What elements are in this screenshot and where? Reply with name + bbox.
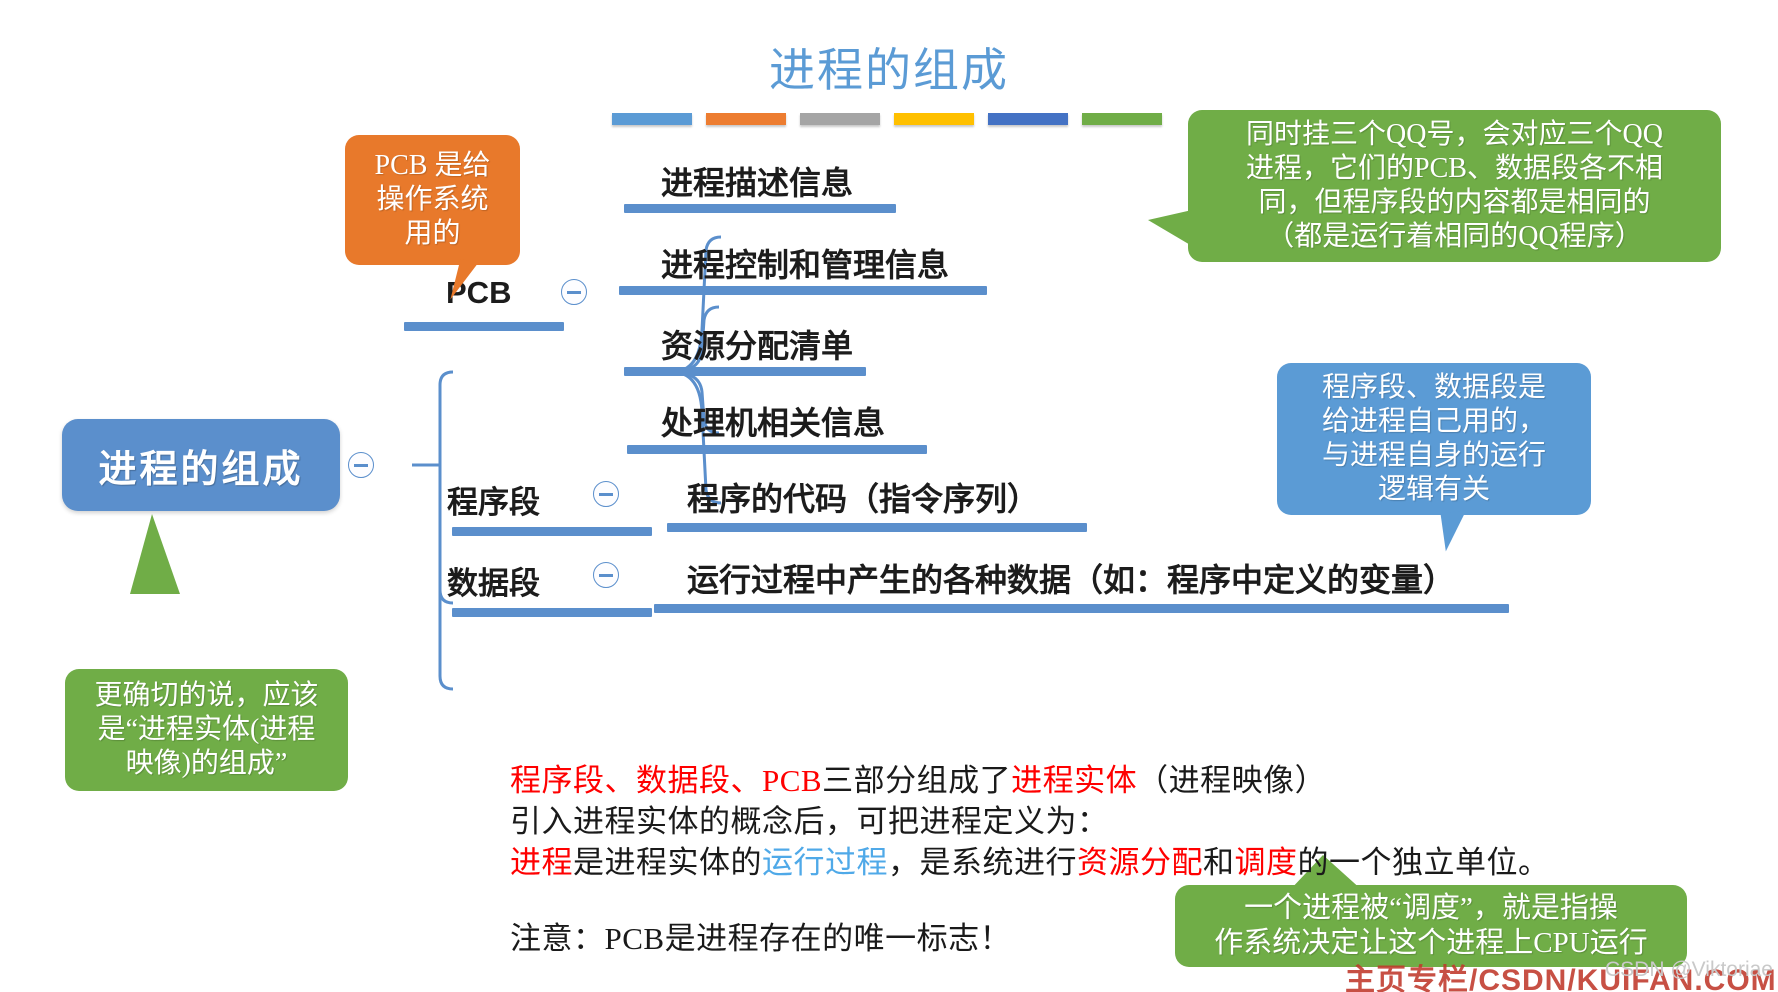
callout-segment-line-3: 与进程自身的运行 bbox=[1322, 439, 1546, 473]
collapse-toggle-data[interactable] bbox=[593, 562, 619, 588]
colorbar-segment-2 bbox=[706, 113, 786, 125]
paragraph-line-1-part-4: （进程映像） bbox=[1137, 763, 1326, 798]
decorative-colorbar bbox=[612, 113, 1162, 125]
callout-segment-line-2: 给进程自己用的， bbox=[1322, 405, 1546, 439]
paragraph-line-3-part-7: 调度 bbox=[1235, 845, 1298, 880]
mindmap-leaf-underline-4 bbox=[627, 445, 927, 454]
paragraph-line-3-part-5: 资源分配 bbox=[1077, 845, 1203, 880]
collapse-toggle-root[interactable] bbox=[348, 452, 374, 478]
callout-qq-line-4: （都是运行着相同的QQ程序） bbox=[1266, 220, 1642, 254]
callout-pcb-line-1: PCB 是给 bbox=[375, 149, 491, 183]
paragraph-line-3-part-2: 是进程实体的 bbox=[573, 845, 762, 880]
colorbar-segment-4 bbox=[894, 113, 974, 125]
callout-entity-tail bbox=[130, 514, 180, 594]
callout-entity-line-3: 映像)的组成” bbox=[126, 747, 288, 781]
collapse-toggle-pcb[interactable] bbox=[561, 279, 587, 305]
page-title: 进程的组成 bbox=[0, 34, 1778, 100]
paragraph-line-3-part-8: 的一个独立单位。 bbox=[1298, 845, 1550, 880]
paragraph-line-3-part-1: 进程 bbox=[510, 845, 573, 880]
callout-qq-tail bbox=[1148, 210, 1192, 246]
watermark-gray: CSDN @Viktoriae bbox=[1605, 958, 1773, 982]
paragraph-line-3-part-3: 运行过程 bbox=[762, 845, 888, 880]
mindmap-leaf-label-1: 进程描述信息 bbox=[661, 158, 853, 204]
mindmap-leaf-label-5: 程序的代码（指令序列） bbox=[687, 474, 1039, 520]
paragraph-line-1-part-2: 三部分组成了 bbox=[822, 763, 1011, 798]
mindmap-leaf-underline-5 bbox=[667, 523, 1087, 532]
colorbar-segment-1 bbox=[612, 113, 692, 125]
mindmap-root-node[interactable]: 进程的组成 bbox=[62, 419, 340, 511]
callout-qq-line-1: 同时挂三个QQ号，会对应三个QQ bbox=[1246, 118, 1663, 152]
mindmap-root-label: 进程的组成 bbox=[98, 438, 303, 493]
collapse-toggle-program[interactable] bbox=[593, 481, 619, 507]
callout-qq-note: 同时挂三个QQ号，会对应三个QQ 进程，它们的PCB、数据段各不相 同，但程序段… bbox=[1188, 110, 1721, 262]
callout-entity-note: 更确切的说，应该 是“进程实体(进程 映像)的组成” bbox=[65, 669, 348, 791]
mindmap-node-data-underline bbox=[452, 608, 652, 617]
callout-segment-line-4: 逻辑有关 bbox=[1378, 473, 1490, 507]
slide-canvas: 进程的组成 进程的组成 PCB 进程描述信息 进程控制和管理信息 资源分配清单 … bbox=[0, 0, 1778, 992]
callout-segment-tail bbox=[1441, 509, 1482, 552]
paragraph-line-1-part-3: 进程实体 bbox=[1011, 763, 1137, 798]
mindmap-leaf-underline-1 bbox=[624, 204, 896, 213]
mindmap-leaf-underline-3 bbox=[624, 367, 866, 376]
mindmap-leaf-label-6: 运行过程中产生的各种数据（如：程序中定义的变量） bbox=[687, 555, 1455, 601]
callout-segment-note: 程序段、数据段是 给进程自己用的， 与进程自身的运行 逻辑有关 bbox=[1277, 363, 1591, 515]
paragraph-line-3: 进程是进程实体的运行过程，是系统进行资源分配和调度的一个独立单位。 bbox=[510, 837, 1550, 882]
callout-pcb-line-3: 用的 bbox=[404, 217, 460, 251]
paragraph-line-1-part-1: 程序段、数据段、PCB bbox=[510, 763, 822, 798]
callout-entity-line-1: 更确切的说，应该 bbox=[94, 679, 318, 713]
callout-pcb-note: PCB 是给 操作系统 用的 bbox=[345, 135, 520, 265]
mindmap-leaf-label-2: 进程控制和管理信息 bbox=[661, 240, 949, 286]
paragraph-line-3-part-6: 和 bbox=[1203, 845, 1235, 880]
callout-qq-line-3: 同，但程序段的内容都是相同的 bbox=[1258, 186, 1650, 220]
paragraph-line-2: 引入进程实体的概念后，可把进程定义为： bbox=[510, 796, 1109, 841]
mindmap-node-pcb-underline bbox=[404, 322, 564, 331]
paragraph-line-1: 程序段、数据段、PCB三部分组成了进程实体（进程映像） bbox=[510, 755, 1326, 800]
mindmap-leaf-underline-6 bbox=[654, 604, 1509, 613]
colorbar-segment-5 bbox=[988, 113, 1068, 125]
mindmap-node-program-label: 程序段 bbox=[447, 477, 540, 522]
mindmap-node-data-label: 数据段 bbox=[447, 558, 540, 603]
callout-pcb-line-2: 操作系统 bbox=[376, 183, 488, 217]
mindmap-leaf-label-3: 资源分配清单 bbox=[661, 321, 853, 367]
callout-schedule-line-1: 一个进程被“调度”，就是指操 bbox=[1244, 891, 1618, 926]
colorbar-segment-3 bbox=[800, 113, 880, 125]
mindmap-node-program-underline bbox=[452, 527, 652, 536]
paragraph-line-4: 注意：PCB是进程存在的唯一标志！ bbox=[510, 913, 1011, 958]
colorbar-segment-6 bbox=[1082, 113, 1162, 125]
mindmap-leaf-underline-2 bbox=[619, 286, 987, 295]
paragraph-line-3-part-4: ，是系统进行 bbox=[888, 845, 1077, 880]
callout-qq-line-2: 进程，它们的PCB、数据段各不相 bbox=[1246, 152, 1663, 186]
callout-segment-line-1: 程序段、数据段是 bbox=[1322, 371, 1546, 405]
mindmap-leaf-label-4: 处理机相关信息 bbox=[661, 398, 885, 444]
callout-entity-line-2: 是“进程实体(进程 bbox=[98, 713, 316, 747]
